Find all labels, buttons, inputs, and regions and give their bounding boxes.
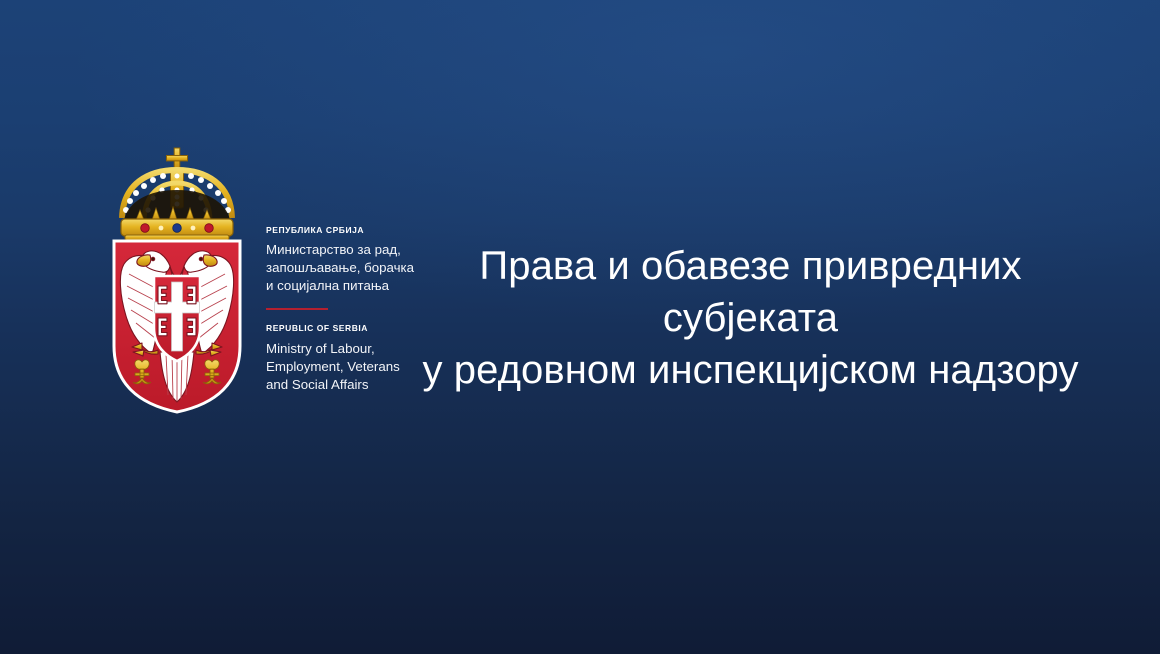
page-title-line1: Права и обавезе привредних [398, 240, 1103, 292]
ministry-name-sr-line1: Министарство за рад, [266, 241, 441, 259]
ministry-name-sr: Министарство за рад, запошљавање, борачк… [266, 241, 441, 295]
shield-icon [114, 241, 240, 412]
page-title-line3: у редовном инспекцијском надзору [398, 344, 1103, 396]
ministry-logo-lockup: РЕПУБЛИКА СРБИЈА Министарство за рад, за… [98, 140, 448, 420]
page-title: Права и обавезе привредних субјеката у р… [398, 240, 1103, 396]
logo-divider [266, 308, 328, 310]
crown-icon [121, 148, 233, 240]
ministry-name-en-line3: and Social Affairs [266, 376, 441, 394]
title-slide: РЕПУБЛИКА СРБИЈА Министарство за рад, за… [0, 0, 1160, 654]
inner-cross-shield-icon [154, 276, 200, 361]
serbia-coat-of-arms-icon [98, 140, 256, 420]
ministry-name-en-line1: Ministry of Labour, [266, 340, 441, 358]
ministry-wordmark: РЕПУБЛИКА СРБИЈА Министарство за рад, за… [266, 140, 441, 394]
ministry-name-sr-line2: запошљавање, борачка [266, 259, 441, 277]
republic-eyebrow-en: REPUBLIC OF SERBIA [266, 323, 441, 333]
ministry-name-en: Ministry of Labour, Employment, Veterans… [266, 340, 441, 394]
ministry-name-sr-line3: и социјална питања [266, 277, 441, 295]
ministry-name-en-line2: Employment, Veterans [266, 358, 441, 376]
republic-eyebrow-sr: РЕПУБЛИКА СРБИЈА [266, 225, 441, 235]
page-title-line2: субјеката [398, 292, 1103, 344]
